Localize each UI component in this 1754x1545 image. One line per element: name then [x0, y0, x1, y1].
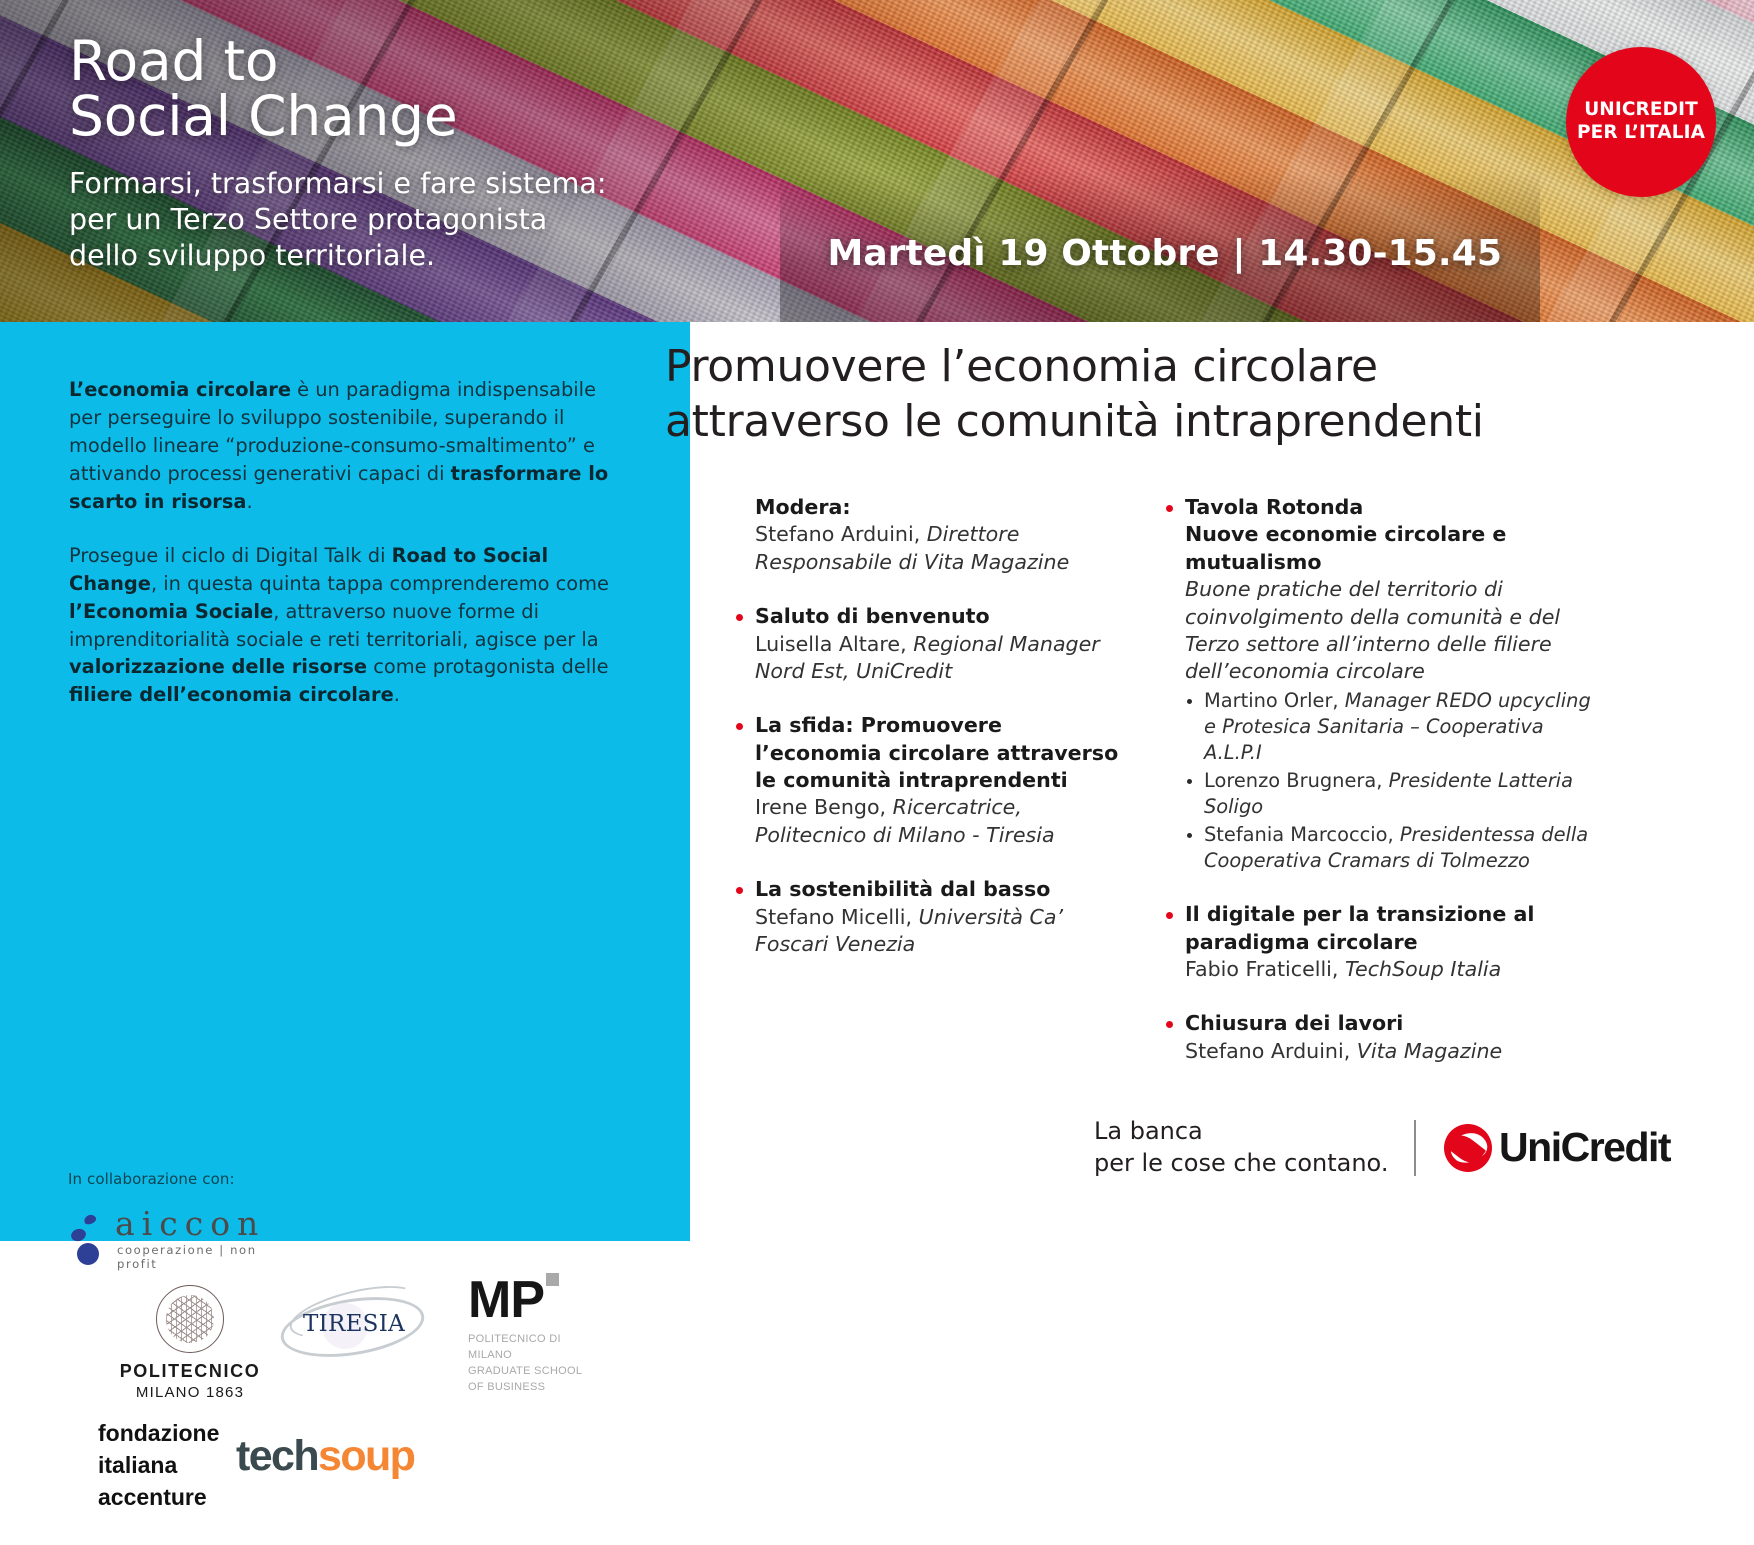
- roundtable-speaker-list: Martino Orler, Manager REDO upcycling e …: [1185, 688, 1592, 875]
- footer-divider: [1414, 1120, 1416, 1176]
- politecnico-emblem-icon: [156, 1285, 224, 1353]
- programme-speaker: Stefano Arduini, Vita Magazine: [1185, 1038, 1592, 1065]
- programme-heading-secondary: Nuove economie circolare e mutualismo: [1185, 521, 1592, 576]
- intro-p2-bold-4: filiere dell’economia circolare: [69, 683, 394, 706]
- aiccon-dots-icon: [68, 1215, 108, 1259]
- advertising-disclaimer: Messaggio pubblicitario: [66, 1527, 244, 1545]
- brand-claim-line2: per le cose che contano.: [1094, 1148, 1388, 1180]
- event-date-time: Martedì 19 Ottobre | 14.30-15.45: [827, 233, 1502, 274]
- left-info-panel: L’economia circolare è un paradigma indi…: [0, 322, 690, 1241]
- programme-item-chiusura: Chiusura dei lavori Stefano Arduini, Vit…: [1162, 1010, 1592, 1065]
- list-item: Martino Orler, Manager REDO upcycling e …: [1185, 688, 1592, 767]
- programme-heading: Tavola Rotonda: [1185, 494, 1592, 521]
- aiccon-logo: aiccon cooperazione | non profit: [68, 1207, 268, 1259]
- intro-p2-text-1: Prosegue il ciclo di Digital Talk di: [69, 544, 392, 567]
- techsoup-part1: tech: [236, 1432, 318, 1480]
- intro-p2-bold-3: valorizzazione delle risorse: [69, 655, 367, 678]
- programme-item-saluto: Saluto di benvenuto Luisella Altare, Reg…: [732, 603, 1132, 685]
- fondazione-italiana-accenture-logo: fondazione italiana accenture: [98, 1418, 219, 1514]
- intro-p1-text-2: .: [247, 490, 253, 513]
- mip-wordmark: MP: [468, 1277, 608, 1325]
- programme-speaker: Luisella Altare, Regional Manager Nord E…: [755, 631, 1132, 686]
- programme-subtitle: Buone pratiche del territorio di coinvol…: [1185, 576, 1592, 686]
- header-banner: Road to Social Change Formarsi, trasform…: [0, 0, 1754, 322]
- talk-title-line1: Promuovere l’economia circolare: [665, 340, 1665, 395]
- badge-line1: UNICREDIT: [1584, 99, 1698, 122]
- speaker-role: TechSoup Italia: [1345, 957, 1501, 981]
- event-title: Road to Social Change: [69, 34, 606, 144]
- intro-paragraph-2: Prosegue il ciclo di Digital Talk di Roa…: [69, 542, 629, 710]
- programme-heading: Modera:: [755, 494, 1132, 521]
- politecnico-milano-logo: POLITECNICO MILANO 1863: [110, 1285, 270, 1401]
- programme-speaker: Irene Bengo, Ricercatrice, Politecnico d…: [755, 794, 1132, 849]
- aiccon-wordmark: aiccon: [115, 1207, 265, 1240]
- talk-title: Promuovere l’economia circolare attraver…: [665, 340, 1665, 449]
- mip-sub-line2: GRADUATE SCHOOL: [468, 1364, 608, 1380]
- accenture-line1: fondazione: [98, 1418, 219, 1450]
- programme-speaker: Fabio Fraticelli, TechSoup Italia: [1185, 956, 1592, 983]
- mip-subtitle: POLITECNICO DI MILANO GRADUATE SCHOOL OF…: [468, 1332, 608, 1396]
- brand-claim-line1: La banca: [1094, 1116, 1388, 1148]
- programme-heading: Il digitale per la transizione al paradi…: [1185, 901, 1592, 956]
- programme-speaker: Stefano Micelli, Università Ca’ Foscari …: [755, 904, 1132, 959]
- mip-logo: MP POLITECNICO DI MILANO GRADUATE SCHOOL…: [468, 1277, 608, 1396]
- programme-item-modera: Modera: Stefano Arduini, Direttore Respo…: [732, 494, 1132, 576]
- speaker-name: Fabio Fraticelli,: [1185, 957, 1345, 981]
- aiccon-tagline: cooperazione | non profit: [117, 1243, 268, 1271]
- programme-column-left: Modera: Stefano Arduini, Direttore Respo…: [732, 494, 1132, 958]
- intro-text: L’economia circolare è un paradigma indi…: [69, 376, 629, 709]
- brand-claim: La banca per le cose che contano.: [1094, 1116, 1388, 1180]
- speaker-name: Stefano Arduini,: [1185, 1039, 1357, 1063]
- event-subtitle: Formarsi, trasformarsi e fare sistema: p…: [69, 166, 606, 275]
- intro-p2-bold-2: l’Economia Sociale: [69, 600, 273, 623]
- techsoup-logo: techsoup: [236, 1432, 414, 1481]
- programme-heading: Saluto di benvenuto: [755, 603, 1132, 630]
- event-title-block: Road to Social Change Formarsi, trasform…: [69, 34, 606, 275]
- footer-brand-block: La banca per le cose che contano. UniCre…: [1094, 1116, 1670, 1180]
- speaker-name: Stefano Micelli,: [755, 905, 919, 929]
- intro-p1-bold-1: L’economia circolare: [69, 378, 291, 401]
- mip-letters: MP: [468, 1271, 544, 1329]
- intro-p2-text-5: .: [394, 683, 400, 706]
- politecnico-name: POLITECNICO: [110, 1361, 270, 1382]
- unicredit-mark-icon: [1444, 1124, 1492, 1172]
- programme-column-right: Tavola Rotonda Nuove economie circolare …: [1162, 494, 1592, 1065]
- mip-square-icon: [546, 1273, 559, 1286]
- accenture-line2: italiana: [98, 1450, 219, 1482]
- programme-item-sfida: La sfida: Promuovere l’economia circolar…: [732, 712, 1132, 849]
- programme-heading: La sostenibilità dal basso: [755, 876, 1132, 903]
- speaker-name: Lorenzo Brugnera,: [1204, 769, 1389, 792]
- programme-heading: Chiusura dei lavori: [1185, 1010, 1592, 1037]
- programme-item-digitale: Il digitale per la transizione al paradi…: [1162, 901, 1592, 983]
- techsoup-part2: soup: [318, 1432, 414, 1480]
- tiresia-logo: TIRESIA: [280, 1289, 425, 1357]
- unicredit-per-italia-badge: UNICREDIT PER L’ITALIA: [1566, 47, 1716, 197]
- programme-item-sostenibilita: La sostenibilità dal basso Stefano Micel…: [732, 876, 1132, 958]
- speaker-role: Vita Magazine: [1357, 1039, 1502, 1063]
- speaker-name: Stefania Marcoccio,: [1204, 823, 1400, 846]
- talk-title-line2: attraverso le comunità intraprendenti: [665, 395, 1665, 450]
- mip-sub-line3: OF BUSINESS: [468, 1380, 608, 1396]
- speaker-name: Martino Orler,: [1204, 689, 1345, 712]
- mip-sub-line1: POLITECNICO DI MILANO: [468, 1332, 608, 1364]
- badge-line2: PER L’ITALIA: [1577, 122, 1705, 145]
- unicredit-wordmark: UniCredit: [1499, 1124, 1670, 1171]
- list-item: Lorenzo Brugnera, Presidente Latteria So…: [1185, 768, 1592, 821]
- programme-heading: La sfida: Promuovere l’economia circolar…: [755, 712, 1132, 794]
- main-content-panel: Promuovere l’economia circolare attraver…: [690, 322, 1754, 1241]
- event-subtitle-line2: per un Terzo Settore protagonista: [69, 202, 606, 238]
- intro-p2-text-4: come protagonista delle: [367, 655, 608, 678]
- intro-paragraph-1: L’economia circolare è un paradigma indi…: [69, 376, 629, 516]
- collaboration-label: In collaborazione con:: [68, 1170, 235, 1188]
- unicredit-logo: UniCredit: [1444, 1124, 1670, 1172]
- programme-item-tavola-rotonda: Tavola Rotonda Nuove economie circolare …: [1162, 494, 1592, 874]
- tiresia-wordmark: TIRESIA: [294, 1311, 414, 1337]
- speaker-name: Luisella Altare,: [755, 632, 913, 656]
- event-subtitle-line3: dello sviluppo territoriale.: [69, 238, 606, 274]
- programme-speaker: Stefano Arduini, Direttore Responsabile …: [755, 521, 1132, 576]
- intro-p2-text-2: , in questa quinta tappa comprenderemo c…: [151, 572, 609, 595]
- list-item: Stefania Marcoccio, Presidentessa della …: [1185, 822, 1592, 875]
- event-subtitle-line1: Formarsi, trasformarsi e fare sistema:: [69, 166, 606, 202]
- speaker-name: Stefano Arduini,: [755, 522, 927, 546]
- speaker-name: Irene Bengo,: [755, 795, 893, 819]
- event-title-line2: Social Change: [69, 89, 606, 144]
- accenture-line3: accenture: [98, 1482, 219, 1514]
- politecnico-year: MILANO 1863: [110, 1384, 270, 1401]
